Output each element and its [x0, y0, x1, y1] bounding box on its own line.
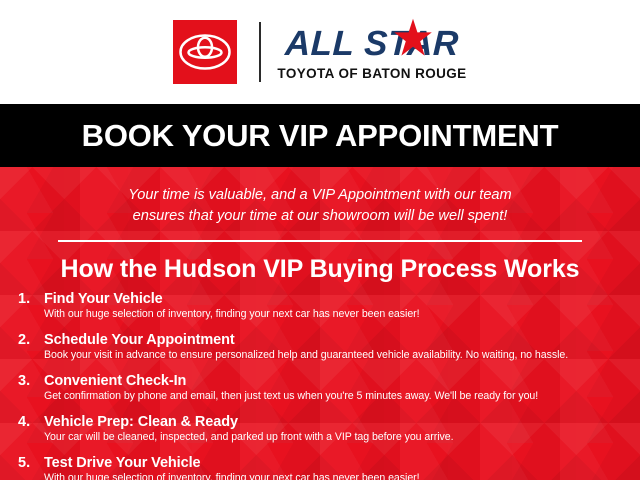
banner-title: BOOK YOUR VIP APPOINTMENT: [82, 118, 559, 154]
step-description: Book your visit in advance to ensure per…: [44, 349, 640, 363]
logo-row: ALL STAR TOYOTA OF BATON ROUGE: [173, 20, 466, 84]
step-title: Vehicle Prep: Clean & Ready: [44, 414, 640, 430]
step-description: With our huge selection of inventory, fi…: [44, 472, 640, 480]
logo-divider: [259, 22, 261, 82]
step-description: Get confirmation by phone and email, the…: [44, 390, 640, 404]
list-item: 1. Find Your Vehicle With our huge selec…: [0, 291, 640, 322]
step-title: Find Your Vehicle: [44, 291, 640, 307]
step-number: 2.: [18, 332, 30, 348]
toyota-emblem-icon: [173, 20, 237, 84]
step-description: With our huge selection of inventory, fi…: [44, 308, 640, 322]
step-title: Test Drive Your Vehicle: [44, 455, 640, 471]
allstar-brand: ALL STAR TOYOTA OF BATON ROUGE: [277, 23, 466, 81]
list-item: 3. Convenient Check-In Get confirmation …: [0, 373, 640, 404]
red-content-panel: Your time is valuable, and a VIP Appoint…: [0, 167, 640, 480]
intro-line-1: Your time is valuable, and a VIP Appoint…: [0, 185, 640, 206]
steps-list: 1. Find Your Vehicle With our huge selec…: [0, 291, 640, 480]
step-number: 5.: [18, 455, 30, 471]
allstar-wordmark: ALL STAR: [285, 23, 459, 63]
allstar-subtitle: TOYOTA OF BATON ROUGE: [277, 66, 466, 81]
intro-text: Your time is valuable, and a VIP Appoint…: [0, 185, 640, 227]
list-item: 5. Test Drive Your Vehicle With our huge…: [0, 455, 640, 480]
step-number: 3.: [18, 373, 30, 389]
banner: BOOK YOUR VIP APPOINTMENT: [0, 104, 640, 167]
step-description: Your car will be cleaned, inspected, and…: [44, 431, 640, 445]
step-number: 4.: [18, 414, 30, 430]
list-item: 2. Schedule Your Appointment Book your v…: [0, 332, 640, 363]
list-item: 4. Vehicle Prep: Clean & Ready Your car …: [0, 414, 640, 445]
horizontal-divider: [58, 240, 582, 242]
section-heading: How the Hudson VIP Buying Process Works: [0, 255, 640, 284]
promotional-flyer: ALL STAR TOYOTA OF BATON ROUGE BOOK YOUR…: [0, 0, 640, 480]
intro-line-2: ensures that your time at our showroom w…: [0, 206, 640, 227]
step-title: Schedule Your Appointment: [44, 332, 640, 348]
allstar-wordmark-text: ALL STAR: [284, 26, 459, 61]
step-number: 1.: [18, 291, 30, 307]
logo-header: ALL STAR TOYOTA OF BATON ROUGE: [0, 0, 640, 104]
step-title: Convenient Check-In: [44, 373, 640, 389]
